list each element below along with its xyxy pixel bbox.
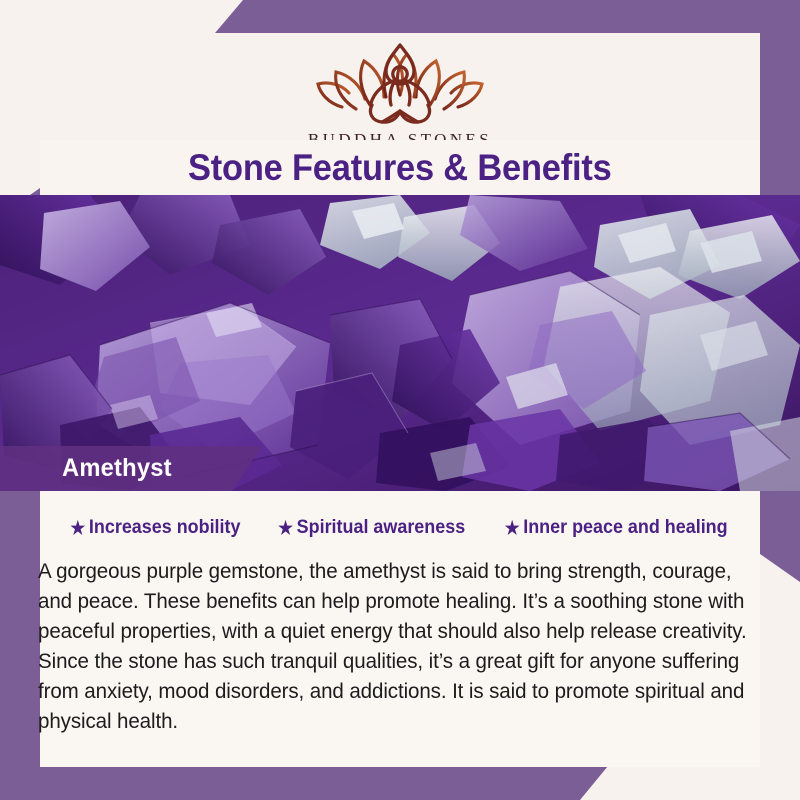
benefit-item: ★ Spiritual awareness — [278, 516, 465, 539]
benefit-item: ★ Inner peace and healing — [505, 516, 728, 539]
benefit-label: Inner peace and healing — [523, 516, 727, 539]
title-banner: Stone Features & Benefits — [40, 140, 760, 195]
lotus-meditation-icon — [312, 37, 488, 129]
frame-bottom-left-accent — [0, 766, 608, 800]
stone-name-label: Amethyst — [62, 454, 172, 483]
page-title: Stone Features & Benefits — [188, 147, 612, 189]
stone-name-banner: Amethyst — [0, 446, 262, 491]
benefit-label: Spiritual awareness — [296, 516, 465, 539]
benefit-item: ★ Increases nobility — [70, 516, 240, 539]
frame-top-right-accent — [215, 0, 800, 33]
star-icon: ★ — [278, 519, 293, 537]
poster-root: BUDDHA STONES Stone Features & Benefits — [0, 0, 800, 800]
benefits-list: ★ Increases nobility ★ Spiritual awarene… — [40, 516, 760, 539]
star-icon: ★ — [505, 519, 520, 537]
benefit-label: Increases nobility — [89, 516, 241, 539]
stone-description: A gorgeous purple gemstone, the amethyst… — [38, 556, 749, 736]
star-icon: ★ — [70, 519, 85, 537]
